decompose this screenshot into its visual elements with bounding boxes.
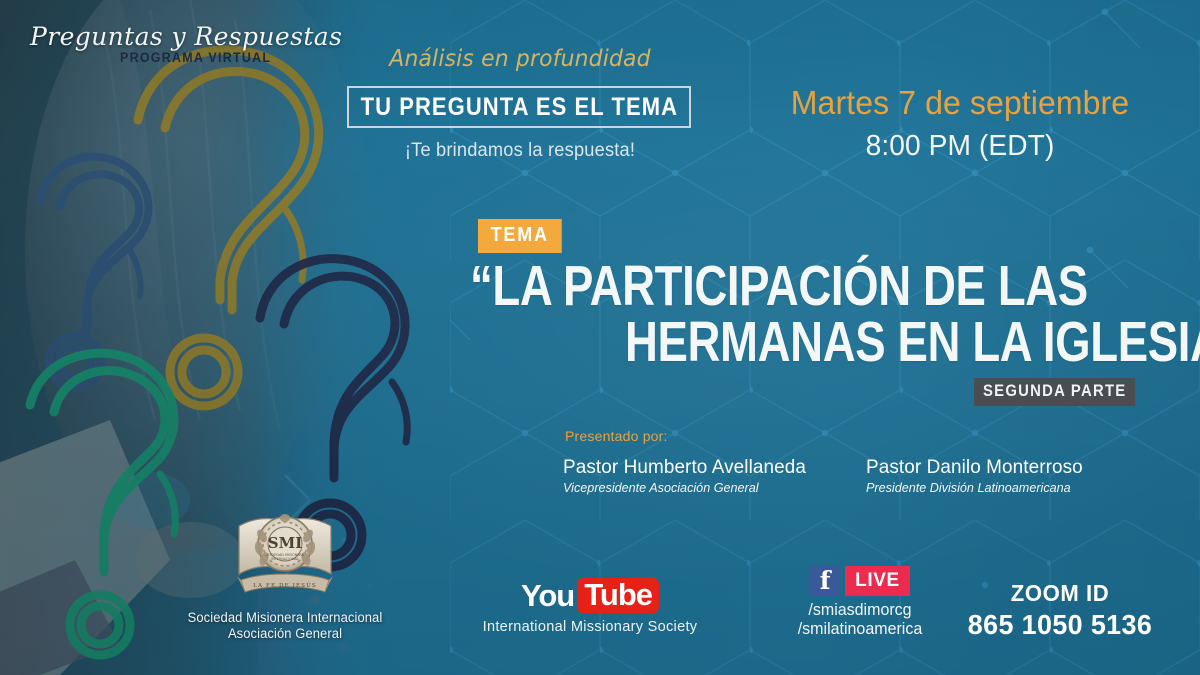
facebook-icon: f <box>810 566 840 596</box>
topic-title: “LA PARTICIPACIÓN DE LAS HERMANAS EN LA … <box>470 258 1140 371</box>
program-script-title: Preguntas y Respuestas <box>30 22 342 51</box>
topic-badge: TEMA <box>478 219 561 253</box>
smi-crest-motto: LA FE DE JESÚS <box>253 581 317 589</box>
youtube-logo: You Tube <box>521 578 659 613</box>
youtube-channel-name: International Missionary Society <box>445 618 736 635</box>
presenter-2-name: Pastor Danilo Monterroso <box>866 456 1083 479</box>
youtube-block[interactable]: You Tube International Missionary Societ… <box>440 578 740 635</box>
svg-text:INTERNACIONAL: INTERNACIONAL <box>271 557 299 561</box>
zoom-id-label: ZOOM ID <box>945 580 1175 607</box>
organization-block: SMI SOCIEDAD MISIONERA INTERNACIONAL LA … <box>175 500 395 641</box>
presenter-1-role: Vicepresidente Asociación General <box>563 480 806 495</box>
smi-crest-acronym: SMI <box>268 534 302 552</box>
youtube-logo-you: You <box>521 580 577 611</box>
facebook-live-badge: f LIVE <box>810 566 910 596</box>
event-date: Martes 7 de septiembre <box>747 84 1174 122</box>
presenter-2: Pastor Danilo Monterroso Presidente Divi… <box>866 456 1090 495</box>
facebook-handle-1[interactable]: /smiasdimorcg <box>755 601 965 620</box>
header-boxed-title-text: TU PREGUNTA ES EL TEMA <box>360 93 677 122</box>
facebook-block[interactable]: f LIVE /smiasdimorcg /smilatinoamerica <box>752 566 968 640</box>
header-kicker: Análisis en profundidad <box>356 46 685 72</box>
presenter-1-name: Pastor Humberto Avellaneda <box>563 456 806 479</box>
zoom-id-value: 865 1050 5136 <box>945 609 1175 641</box>
live-badge: LIVE <box>845 566 910 596</box>
organization-name-line-1: Sociedad Misionera Internacional <box>179 610 390 625</box>
smi-crest-logo: SMI SOCIEDAD MISIONERA INTERNACIONAL LA … <box>231 500 339 606</box>
promotional-poster: Preguntas y Respuestas PROGRAMA VIRTUAL … <box>0 0 1200 675</box>
topic-title-line-2: HERMANAS EN LA IGLESIA” <box>625 314 1200 370</box>
topic-title-line-1: “LA PARTICIPACIÓN DE LAS <box>470 258 1006 314</box>
zoom-block: ZOOM ID 865 1050 5136 <box>940 580 1180 641</box>
organization-name-line-2: Asociación General <box>179 626 390 641</box>
presenters-label: Presentado por: <box>565 428 668 444</box>
youtube-logo-tube: Tube <box>577 578 659 613</box>
event-time: 8:00 PM (EDT) <box>747 130 1174 163</box>
header-tagline: ¡Te brindamos la respuesta! <box>354 140 686 162</box>
presenter-2-role: Presidente División Latinoamericana <box>866 480 1083 495</box>
facebook-handle-2[interactable]: /smilatinoamerica <box>755 620 965 639</box>
program-subtitle: PROGRAMA VIRTUAL <box>120 50 271 65</box>
presenter-1: Pastor Humberto Avellaneda Vicepresident… <box>563 456 813 495</box>
topic-part-badge: SEGUNDA PARTE <box>974 378 1135 406</box>
header-boxed-title: TU PREGUNTA ES EL TEMA <box>347 86 691 128</box>
